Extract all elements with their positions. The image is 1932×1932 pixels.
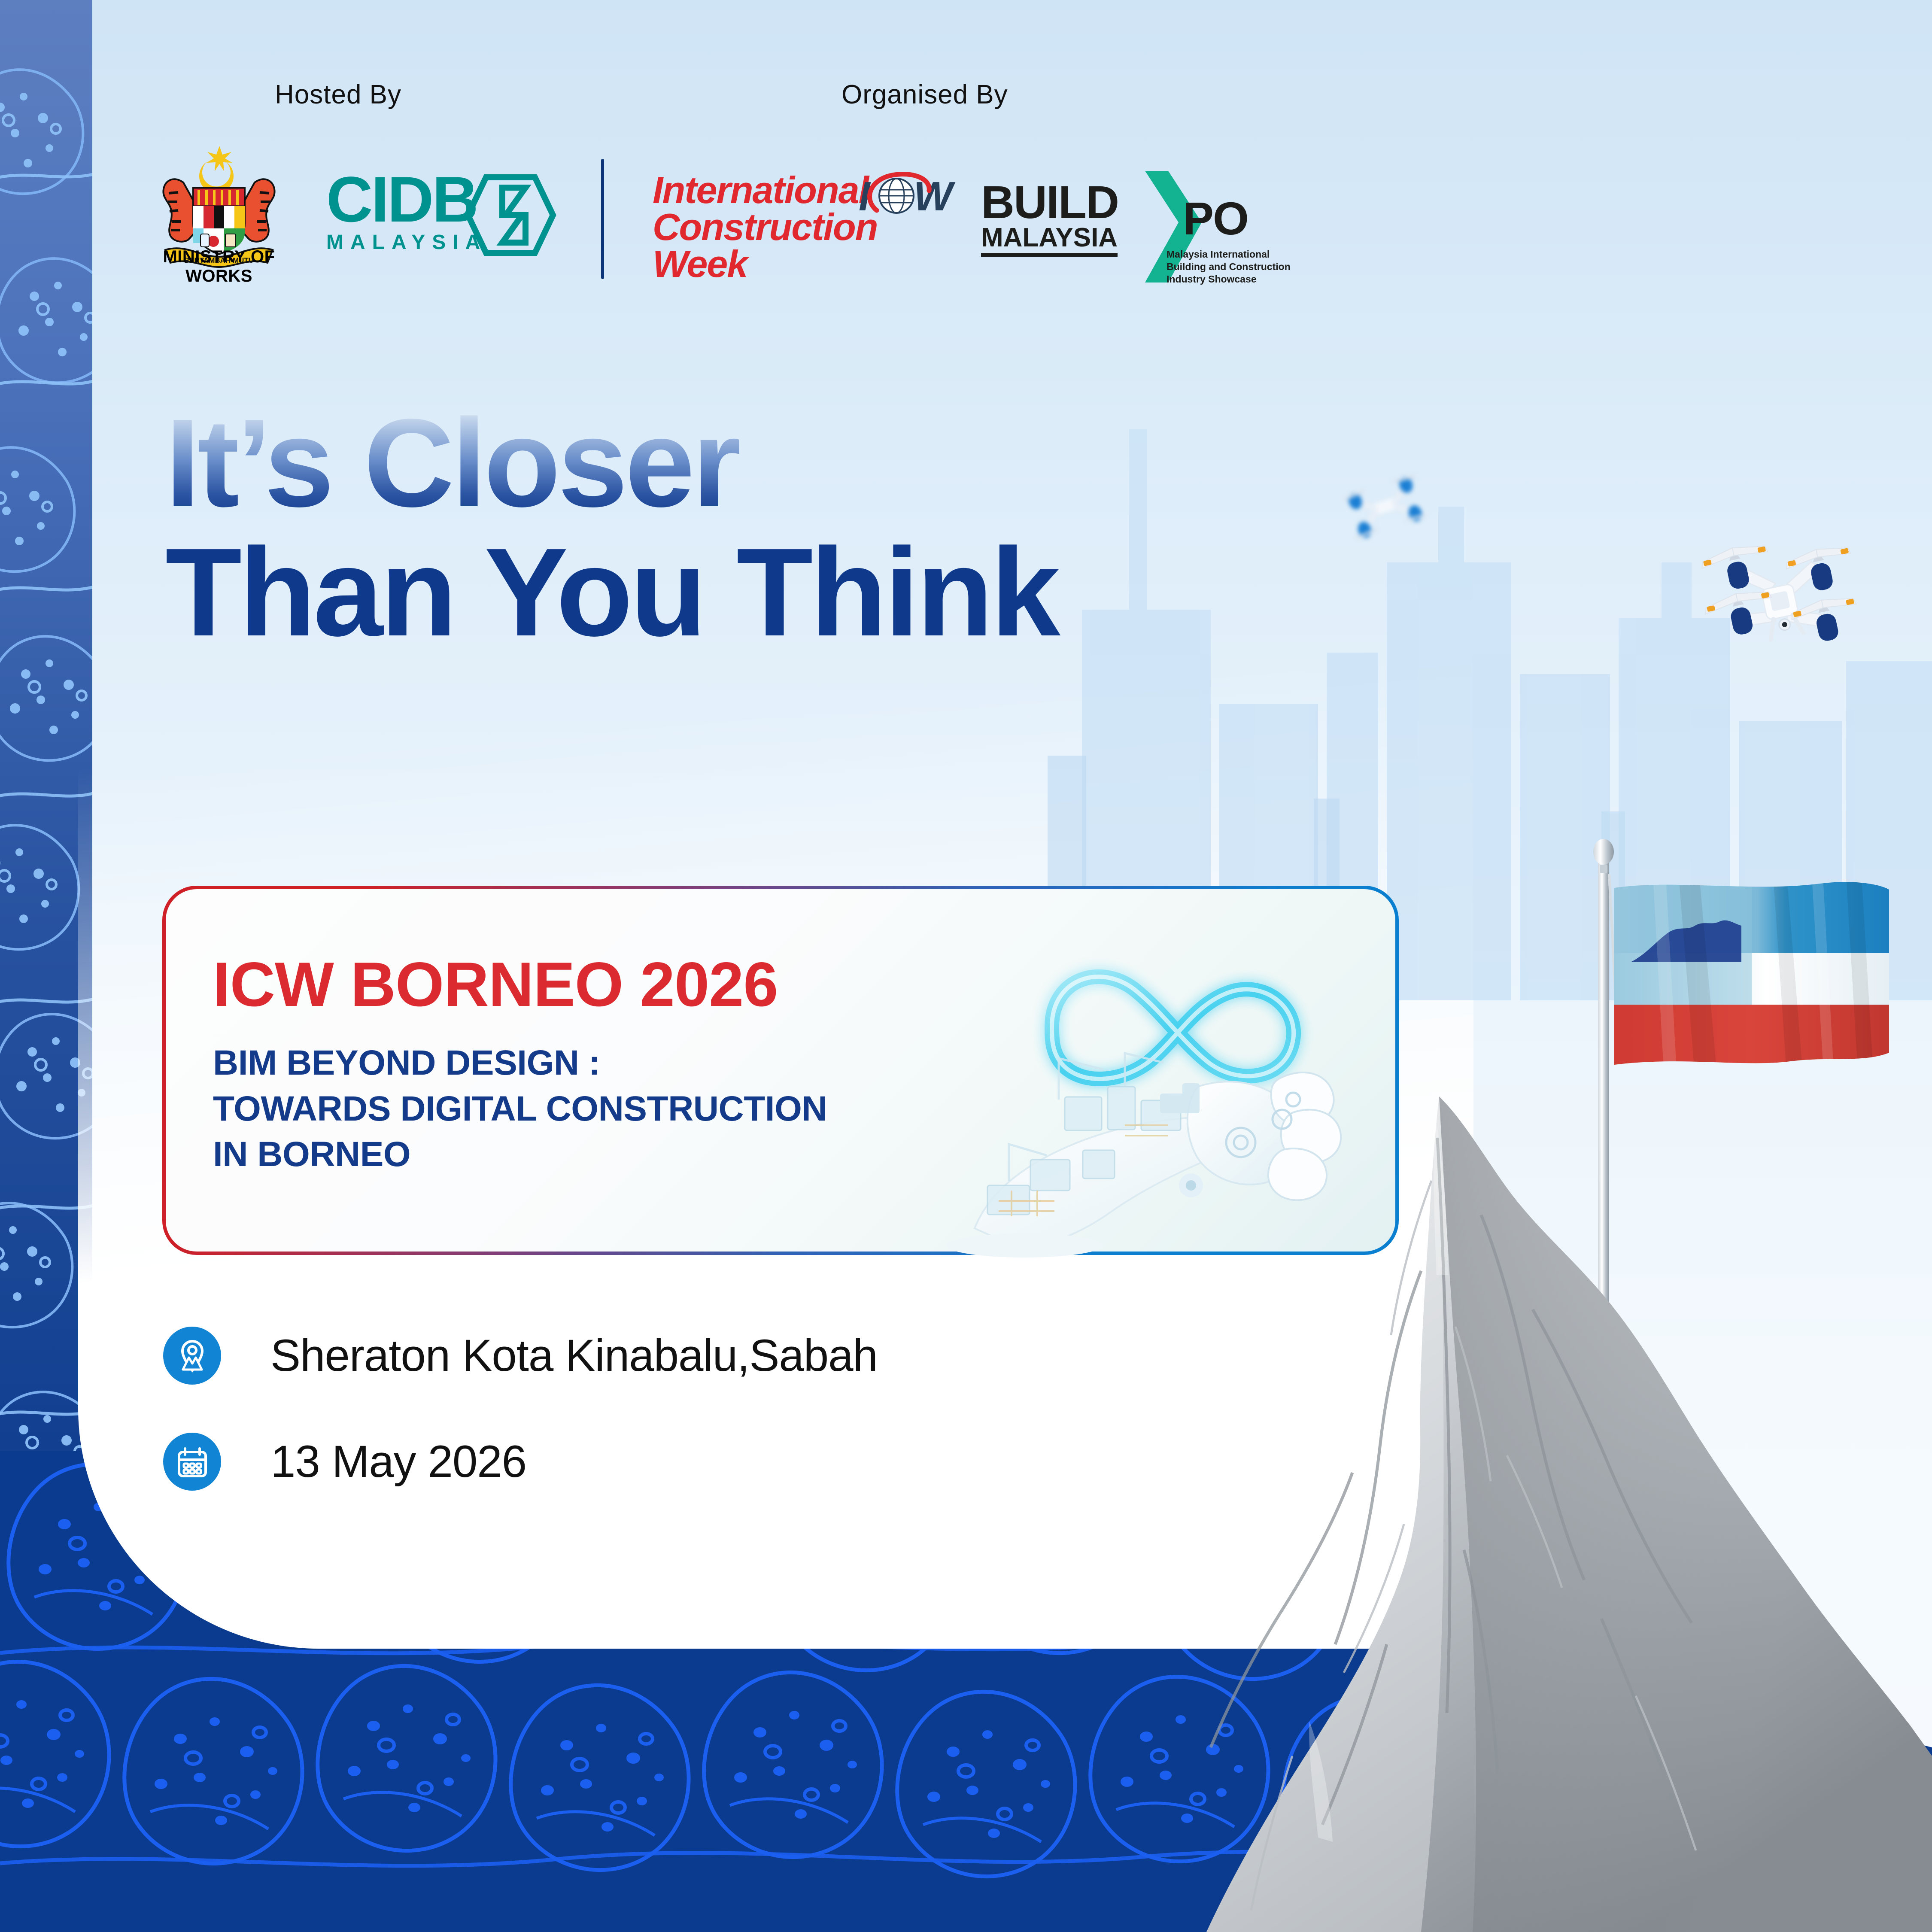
event-subtitle-line-1: BIM BEYOND DESIGN : <box>213 1040 964 1086</box>
ministry-of-works-crest: BERTAMBAH MUTU MINISTRY OF WORKS <box>135 142 303 283</box>
quadcopter-drone <box>1687 530 1868 672</box>
svg-text:W: W <box>914 173 956 219</box>
hosted-by-label: Hosted By <box>275 79 401 110</box>
cidb-malaysia-logo: CIDB MALAYSIA <box>326 170 550 260</box>
event-title: ICW BORNEO 2026 <box>213 948 778 1021</box>
detail-row-venue: Sheraton Kota Kinabalu,Sabah <box>163 1327 878 1385</box>
event-details-list: Sheraton Kota Kinabalu,Sabah <box>163 1327 878 1539</box>
location-pin-icon <box>163 1327 221 1385</box>
location-pin-glyph <box>173 1336 212 1376</box>
mount-kinabalu-peak <box>966 1086 1932 1932</box>
buildxpo-po-word: PO <box>1183 191 1248 245</box>
headline-line-2: Than You Think <box>165 533 1539 652</box>
buildxpo-malaysia-logo: BUILD MALAYSIA PO Malaysia International… <box>981 180 1290 266</box>
event-subtitle-line-3: IN BORNEO <box>213 1132 964 1178</box>
event-subtitle-line-2: TOWARDS DIGITAL CONSTRUCTION <box>213 1086 964 1132</box>
international-construction-week-logo: International Construction Week I W <box>653 172 957 266</box>
venue-text: Sheraton Kota Kinabalu,Sabah <box>270 1330 878 1382</box>
calendar-icon <box>163 1433 221 1491</box>
ministry-caption: MINISTRY OF WORKS <box>135 247 303 286</box>
buildxpo-tagline: Malaysia International Building and Cons… <box>1166 248 1295 285</box>
page-title: It’s Closer Than You Think <box>165 404 1539 652</box>
detail-row-date: 13 May 2026 <box>163 1433 878 1491</box>
quadcopter-drone-blurred <box>1344 470 1425 543</box>
header-logos: Hosted By Organised By <box>0 0 1331 309</box>
buildxpo-malaysia-word: MALAYSIA <box>981 225 1118 257</box>
cidb-hexagon-icon <box>461 172 560 258</box>
organised-by-label: Organised By <box>841 79 1008 110</box>
event-subtitle: BIM BEYOND DESIGN : TOWARDS DIGITAL CONS… <box>213 1040 964 1178</box>
date-text: 13 May 2026 <box>270 1436 526 1488</box>
headline-line-1: It’s Closer <box>165 404 1539 522</box>
calendar-glyph <box>173 1443 212 1481</box>
poster-canvas: Hosted By Organised By <box>0 0 1932 1932</box>
logo-divider <box>601 159 604 279</box>
icw-globe-icon: I W <box>855 169 967 225</box>
